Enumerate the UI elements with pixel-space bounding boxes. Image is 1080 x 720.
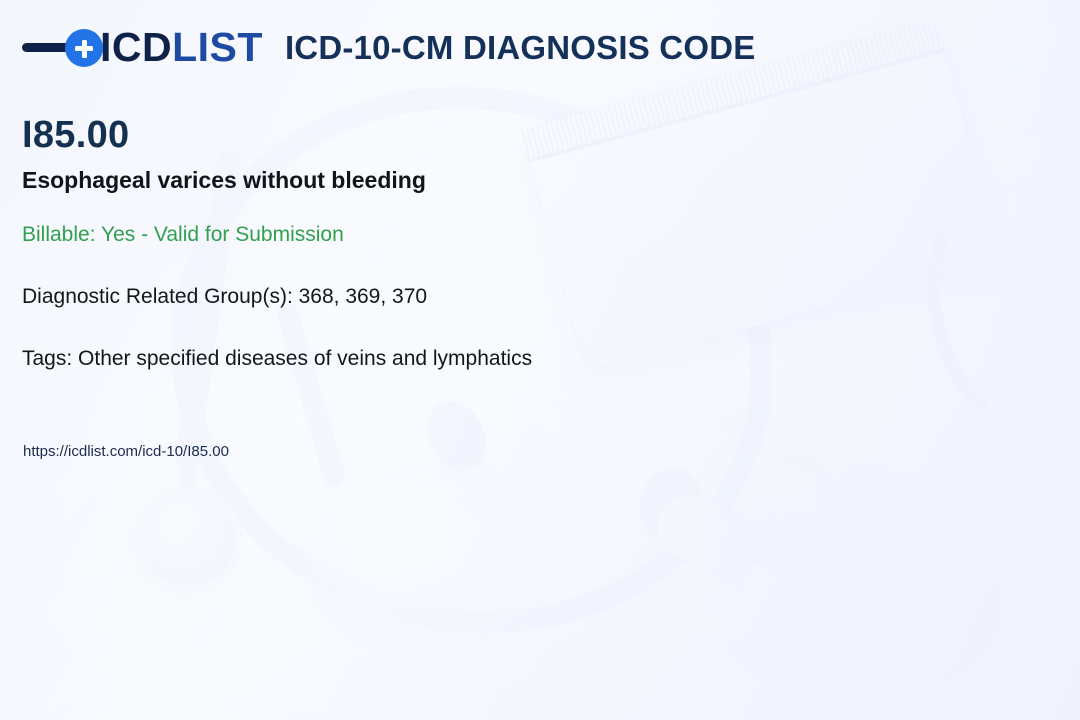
card-header: ICDLIST ICD-10-CM DIAGNOSIS CODE <box>22 27 755 68</box>
stethoscope-highlight <box>300 460 570 660</box>
horizontal-dash-icon <box>22 43 70 52</box>
stethoscope-tube-right-icon <box>274 301 348 490</box>
surgical-mask-earloop-icon <box>905 165 1080 452</box>
hand-finger-icon <box>762 447 873 590</box>
icdlist-logo[interactable]: ICDLIST <box>22 27 263 68</box>
stethoscope-chestpiece-icon <box>140 490 236 586</box>
hand-finger-icon <box>894 483 961 600</box>
stethoscope-tube-left-icon <box>174 150 242 470</box>
medical-plus-icon <box>65 29 103 67</box>
paper-heart-icon <box>659 435 820 596</box>
logo-word-icd: ICD <box>100 24 172 70</box>
source-url[interactable]: https://icdlist.com/icd-10/I85.00 <box>23 443 229 460</box>
diagnosis-description: Esophageal varices without bleeding <box>22 167 426 194</box>
diagnosis-code: I85.00 <box>22 114 129 157</box>
logo-wordmark: ICDLIST <box>100 27 263 68</box>
surgical-mask-icon <box>521 19 1001 372</box>
tags-line: Tags: Other specified diseases of veins … <box>22 347 532 371</box>
page-title: ICD-10-CM DIAGNOSIS CODE <box>285 29 756 67</box>
hand-palm-icon <box>685 450 1014 720</box>
icd-code-card: ICDLIST ICD-10-CM DIAGNOSIS CODE I85.00 … <box>0 0 1080 720</box>
hand-finger-icon <box>830 457 918 592</box>
diagnostic-related-groups: Diagnostic Related Group(s): 368, 369, 3… <box>22 285 427 309</box>
logo-word-list: LIST <box>172 24 263 70</box>
stethoscope-eartip-left-icon <box>418 393 495 480</box>
stethoscope-stem-icon <box>174 461 199 515</box>
billable-status: Billable: Yes - Valid for Submission <box>22 223 344 247</box>
stethoscope-eartip-right-icon <box>631 461 709 549</box>
